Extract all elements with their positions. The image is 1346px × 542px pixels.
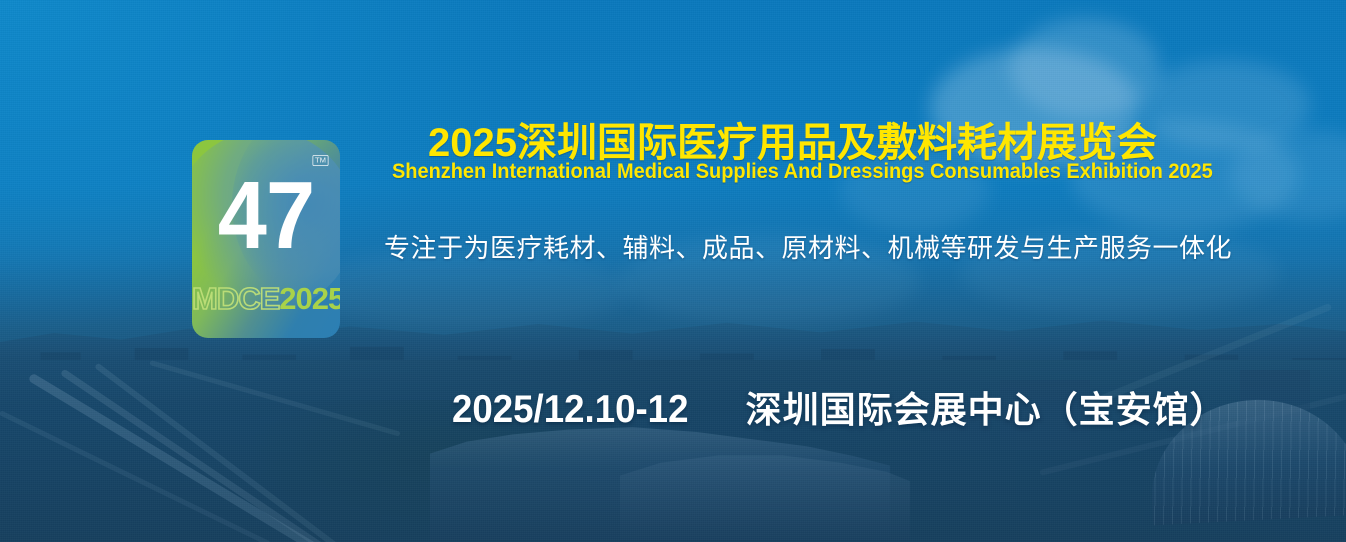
page-title-english: Shenzhen International Medical Supplies … xyxy=(392,160,1213,184)
event-details-row: 2025/12.10-12 深圳国际会展中心（宝安馆） xyxy=(452,381,1227,433)
event-date: 2025/12.10-12 xyxy=(452,388,688,432)
event-venue: 深圳国际会展中心（宝安馆） xyxy=(746,381,1227,433)
event-logo-badge: TM 47 MDCE2025 xyxy=(192,140,340,338)
logo-wordmark: MDCE2025 xyxy=(192,283,340,314)
logo-edition-number: 47 xyxy=(198,168,334,264)
logo-year: 2025 xyxy=(279,281,340,316)
logo-abbrev: MDCE xyxy=(192,281,279,316)
cloud-shape xyxy=(1010,18,1160,118)
exhibition-banner: TM 47 MDCE2025 2025深圳国际医疗用品及敷料耗材展览会 Shen… xyxy=(0,0,1346,542)
trademark-icon: TM xyxy=(312,155,328,166)
tagline-text: 专注于为医疗耗材、辅料、成品、原材料、机械等研发与生产服务一体化 xyxy=(384,228,1232,265)
